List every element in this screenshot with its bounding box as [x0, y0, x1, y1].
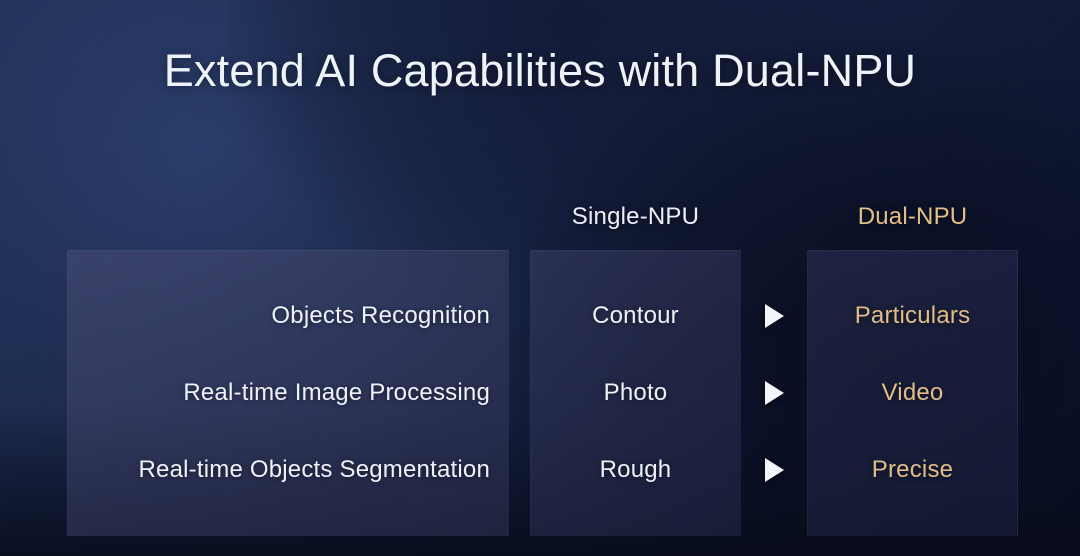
arrow-cell: [765, 432, 784, 509]
slide-title: Extend AI Capabilities with Dual-NPU: [0, 46, 1080, 96]
arrow-cell: [765, 278, 784, 355]
list-item: Photo: [604, 355, 668, 432]
list-item: Real-time Objects Segmentation: [139, 432, 510, 509]
list-item: Video: [882, 355, 944, 432]
list-item: Rough: [600, 432, 672, 509]
right-triangle-arrow-icon: [765, 458, 784, 482]
right-triangle-arrow-icon: [765, 304, 784, 328]
list-item: Particulars: [855, 278, 971, 355]
column-header-dual-npu: Dual-NPU: [785, 203, 1040, 232]
list-item: Objects Recognition: [271, 278, 509, 355]
right-triangle-arrow-icon: [765, 381, 784, 405]
dual-npu-value-list: Particulars Video Precise: [807, 250, 1018, 536]
capability-list: Objects Recognition Real-time Image Proc…: [67, 250, 509, 536]
single-npu-value-list: Contour Photo Rough: [530, 250, 741, 536]
list-item: Contour: [592, 278, 679, 355]
slide-canvas: Extend AI Capabilities with Dual-NPU Sin…: [0, 0, 1080, 556]
arrow-column: [741, 250, 807, 536]
list-item: Real-time Image Processing: [183, 355, 509, 432]
list-item: Precise: [872, 432, 953, 509]
column-header-single-npu: Single-NPU: [508, 203, 763, 232]
arrow-cell: [765, 355, 784, 432]
